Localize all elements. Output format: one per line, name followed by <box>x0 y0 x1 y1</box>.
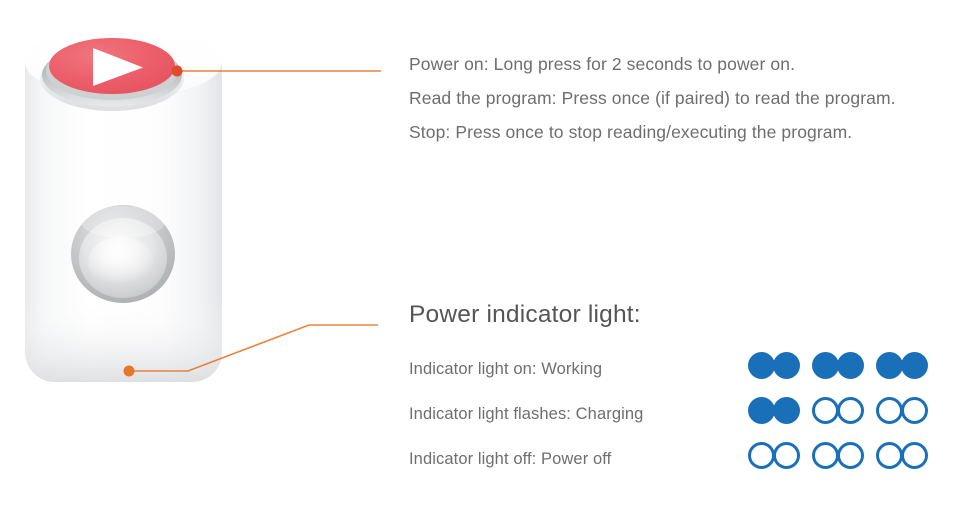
lamp-left <box>876 442 903 469</box>
lamp-left <box>748 352 775 379</box>
lamp-pair <box>748 397 800 424</box>
infographic-page: Power on: Long press for 2 seconds to po… <box>0 0 955 522</box>
lamp-right <box>773 442 800 469</box>
indicator-row-charging: Indicator light flashes: Charging <box>409 393 939 438</box>
button-description-block: Power on: Long press for 2 seconds to po… <box>409 52 909 154</box>
lamp-left <box>812 397 839 424</box>
lamp-right <box>901 397 928 424</box>
lamp-pair <box>748 442 800 469</box>
speaker-dome <box>71 205 175 303</box>
indicator-row-power-off: Indicator light off: Power off <box>409 438 939 483</box>
lamp-left <box>812 442 839 469</box>
lamp-right <box>901 442 928 469</box>
lamp-left <box>876 397 903 424</box>
lamp-right <box>837 397 864 424</box>
power-indicator-section: Power indicator light: Indicator light o… <box>409 300 939 483</box>
lamp-left <box>748 397 775 424</box>
device-illustration <box>0 0 260 400</box>
lamp-pair <box>876 442 928 469</box>
lamp-pair <box>748 352 800 379</box>
lamp-pair <box>812 352 864 379</box>
lamp-pair <box>876 397 928 424</box>
lamp-group-power-off <box>748 442 928 469</box>
lamp-right <box>773 397 800 424</box>
lamp-right <box>837 442 864 469</box>
lamp-group-charging <box>748 397 928 424</box>
lamp-right <box>773 352 800 379</box>
indicator-row-label: Indicator light off: Power off <box>409 447 611 471</box>
description-paragraph-read-program: Read the program: Press once (if paired)… <box>409 86 909 111</box>
lamp-left <box>748 442 775 469</box>
lamp-pair <box>812 442 864 469</box>
description-paragraph-power-on: Power on: Long press for 2 seconds to po… <box>409 52 909 77</box>
lamp-pair <box>812 397 864 424</box>
lamp-left <box>812 352 839 379</box>
power-indicator-heading: Power indicator light: <box>409 300 939 330</box>
lamp-pair <box>876 352 928 379</box>
lamp-group-working <box>748 352 928 379</box>
indicator-row-label: Indicator light flashes: Charging <box>409 402 643 426</box>
lamp-right <box>837 352 864 379</box>
indicator-row-label: Indicator light on: Working <box>409 357 602 381</box>
lamp-left <box>876 352 903 379</box>
power-button[interactable] <box>49 38 175 94</box>
indicator-row-working: Indicator light on: Working <box>409 348 939 393</box>
lamp-right <box>901 352 928 379</box>
description-paragraph-stop: Stop: Press once to stop reading/executi… <box>409 120 909 145</box>
